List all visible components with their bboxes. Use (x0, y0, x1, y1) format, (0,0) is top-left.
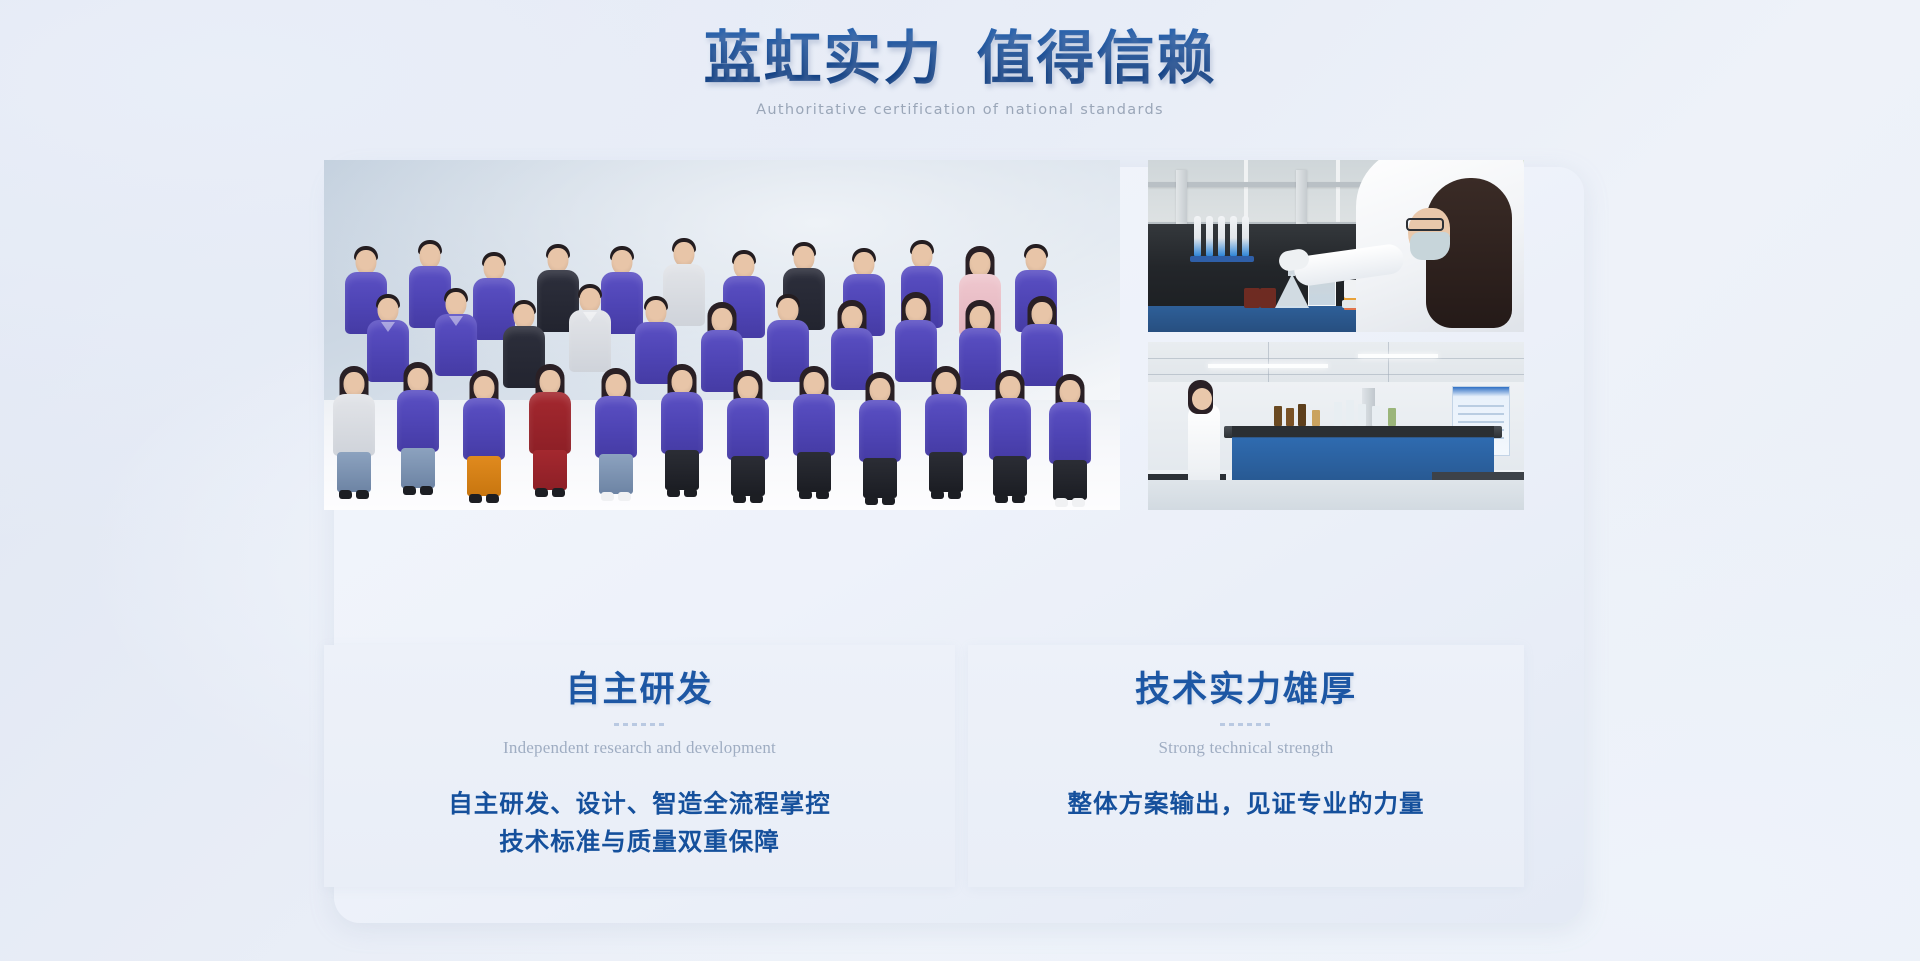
researcher-head (1192, 388, 1212, 410)
page-subtitle: Authoritative certification of national … (0, 102, 1920, 118)
lab-photo-technician (1148, 160, 1524, 332)
feature-card-technical-strength[interactable]: 技术实力雄厚 Strong technical strength 整体方案输出，… (968, 645, 1524, 887)
lab-scene-room (1148, 342, 1524, 510)
pipette-rack (1190, 256, 1254, 262)
card-description-line-1: 自主研发、设计、智造全流程掌控 (324, 786, 955, 824)
page-title: 蓝虹实力 值得信赖 (0, 22, 1920, 96)
feature-card-independent-rnd[interactable]: 自主研发 Independent research and developmen… (324, 645, 955, 887)
team-group-photo (324, 160, 1120, 510)
dashed-divider (614, 723, 666, 726)
feature-cards: 自主研发 Independent research and developmen… (324, 645, 1524, 887)
card-title: 自主研发 (324, 667, 955, 713)
team-members (324, 160, 1120, 510)
card-description-line-2: 技术标准与质量双重保障 (324, 824, 955, 862)
card-description: 整体方案输出，见证专业的力量 (968, 786, 1524, 824)
section-header: 蓝虹实力 值得信赖 Authoritative certification of… (0, 22, 1920, 118)
photo-gallery (324, 160, 1524, 510)
lab-floor (1148, 480, 1524, 510)
lab-photo-room (1148, 342, 1524, 510)
dashed-divider (1220, 723, 1272, 726)
face-mask-icon (1410, 232, 1450, 260)
card-subtitle: Strong technical strength (968, 738, 1524, 758)
card-description-line-1: 整体方案输出，见证专业的力量 (968, 786, 1524, 824)
card-subtitle: Independent research and development (324, 738, 955, 758)
card-title: 技术实力雄厚 (968, 667, 1524, 713)
page-root: 蓝虹实力 值得信赖 Authoritative certification of… (0, 0, 1920, 961)
safety-glasses-icon (1406, 218, 1444, 231)
card-description: 自主研发、设计、智造全流程掌控 技术标准与质量双重保障 (324, 786, 955, 862)
lab-scene-bench (1148, 160, 1524, 332)
